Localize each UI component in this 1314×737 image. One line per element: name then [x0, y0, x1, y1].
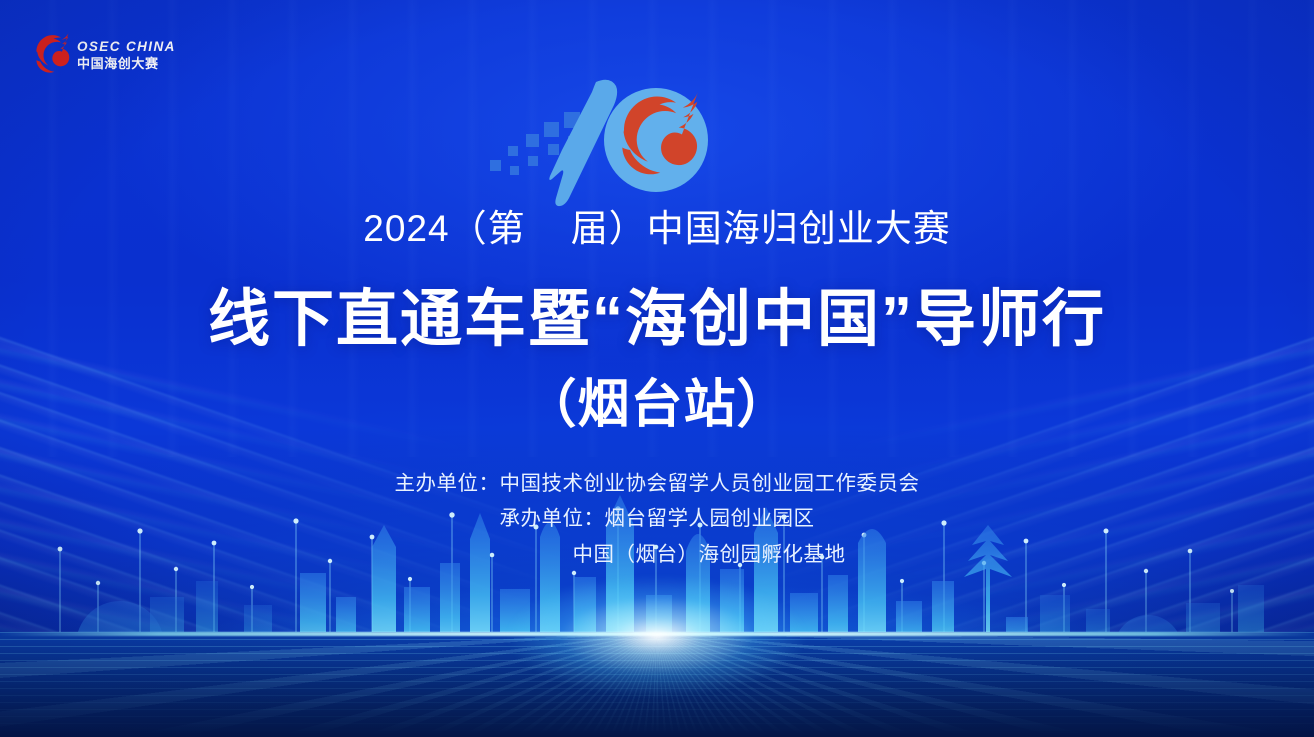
organizers-block: 主办单位：中国技术创业协会留学人员创业园工作委员会 承办单位：烟台留学人园创业园… [0, 466, 1314, 572]
event-poster: OSEC CHINA 中国海创大赛 [0, 0, 1314, 737]
logo-chinese-name: 中国海创大赛 [77, 57, 176, 70]
station-subtitle: （烟台站） [0, 362, 1314, 437]
logo-wordmark: OSEC CHINA 中国海创大赛 [77, 40, 176, 70]
organizer-row: 主办单位：中国技术创业协会留学人员创业园工作委员会 [0, 466, 1314, 501]
organizer-row: 承办单位：烟台留学人园创业园区 [0, 501, 1314, 536]
flame-swirl-icon [34, 30, 74, 80]
brand-logo: OSEC CHINA 中国海创大赛 [34, 26, 176, 84]
logo-english-name: OSEC CHINA [77, 40, 176, 54]
page-title: 线下直通车暨“海创中国”导师行 [0, 268, 1314, 358]
tenth-anniversary-10-emblem-icon [484, 78, 724, 208]
year-edition-line: 2024（第 届）中国海归创业大赛 [0, 198, 1314, 252]
light-burst-icon [447, 551, 867, 721]
tenth-anniversary-emblem [484, 78, 724, 208]
organizer-row: 中国（烟台）海创园孵化基地 [0, 537, 1314, 572]
